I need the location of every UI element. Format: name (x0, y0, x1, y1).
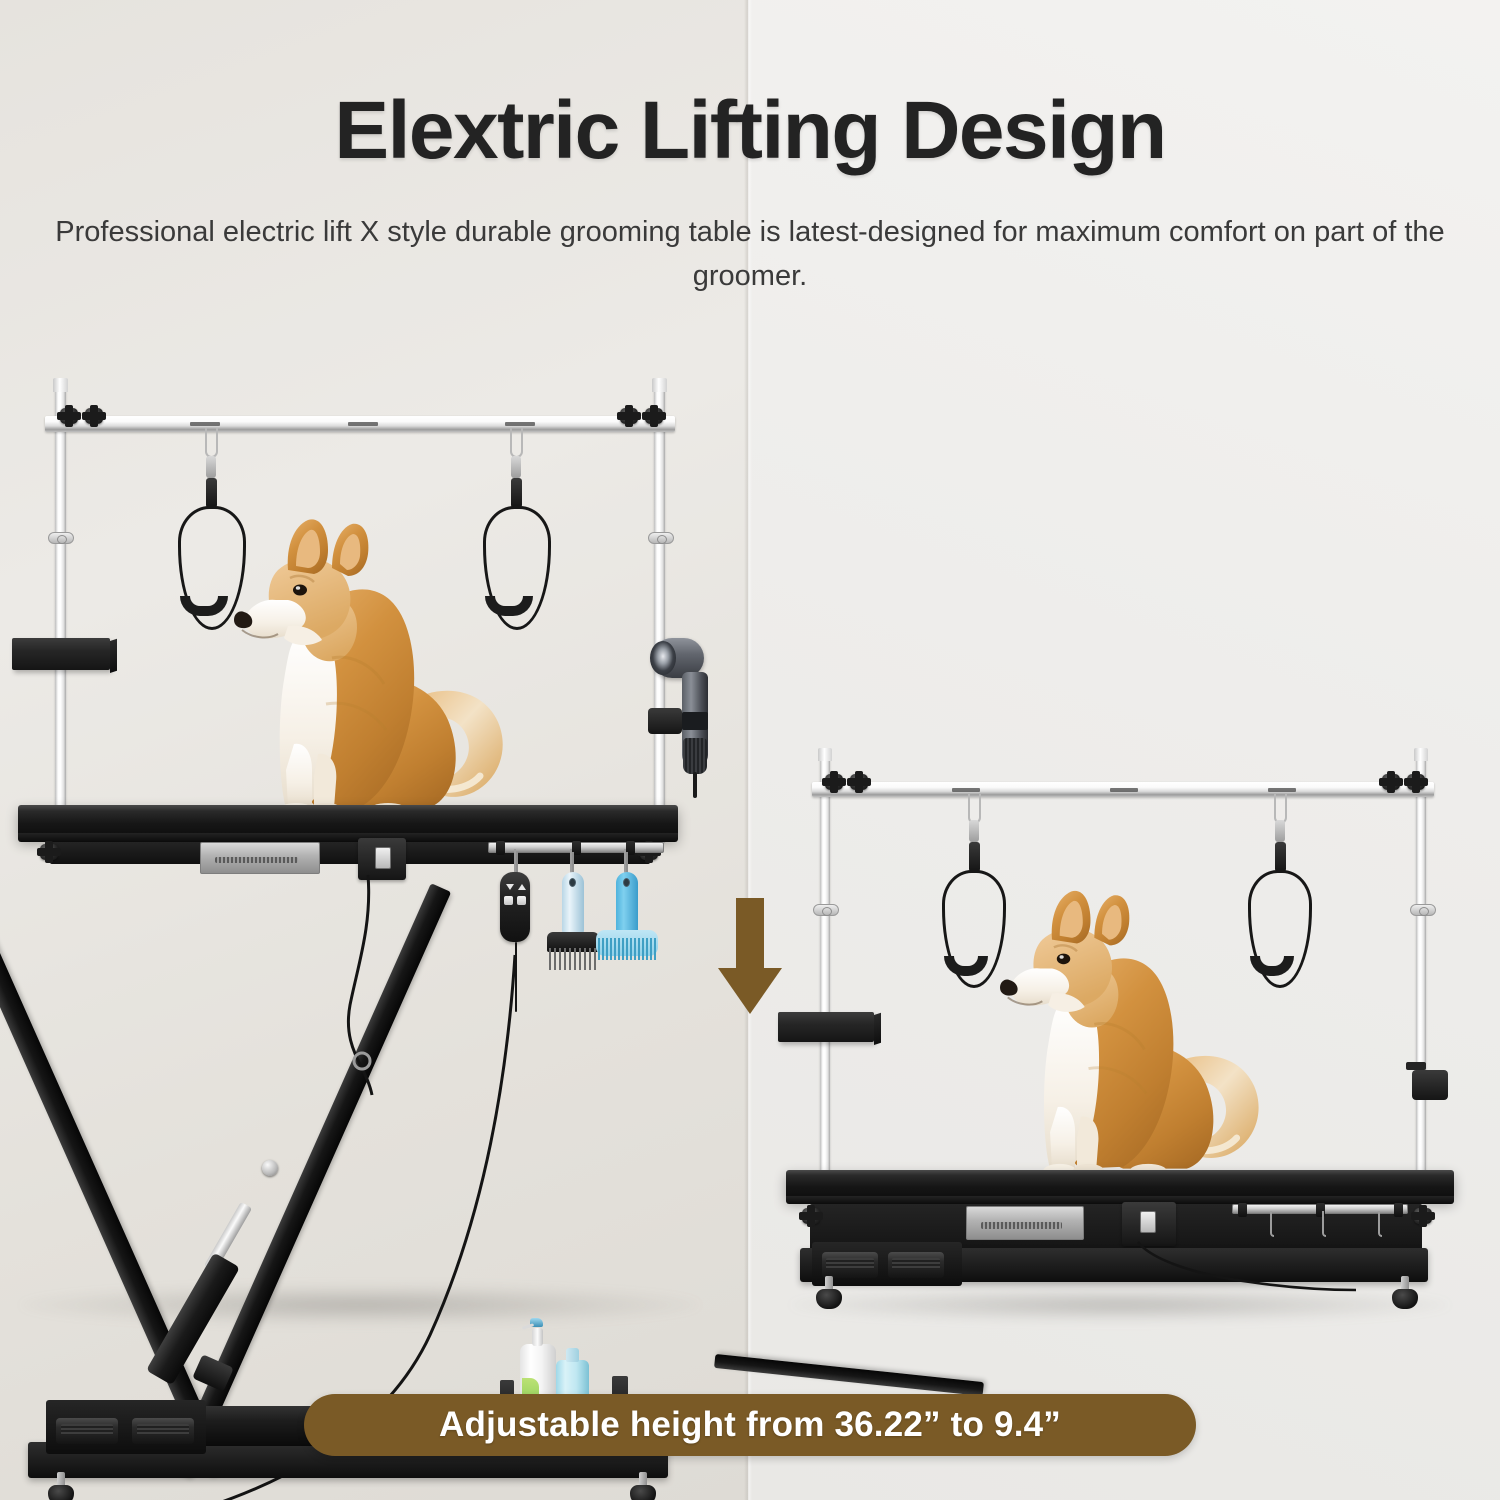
noose-left-slider-r[interactable] (969, 842, 980, 872)
arm-knob-left-inner-r[interactable] (850, 774, 868, 790)
noose-right-slider-r[interactable] (1275, 842, 1286, 872)
arm-slot-2-r (1110, 788, 1138, 792)
noose-left-clip-r (969, 820, 979, 842)
noose-right-clip-r (1275, 820, 1285, 842)
pull-out-storage-drawer-r[interactable] (966, 1206, 1084, 1240)
raised-table-panel (0, 360, 748, 1370)
noose-right-hook (510, 428, 523, 458)
adjustable-height-banner: Adjustable height from 36.22” to 9.4” (304, 1394, 1196, 1456)
hook-rail-clip-3-r (1394, 1203, 1403, 1217)
rake-teeth (549, 948, 597, 970)
right-post-collar-r (1410, 904, 1436, 916)
foot-pedal-right-r[interactable] (888, 1252, 944, 1278)
arm-slot-2 (348, 422, 378, 426)
arm-slot-1 (190, 422, 220, 426)
arrow-head (718, 968, 782, 1014)
dryer-band (682, 712, 708, 730)
dryer-filter-grill (683, 738, 707, 774)
rail-hook-3-r (1378, 1211, 1382, 1237)
arm-slot-1-r (952, 788, 980, 792)
right-vertical-post (654, 388, 665, 843)
lowered-table-panel (770, 720, 1500, 1370)
leveling-foot-left (48, 1472, 74, 1500)
table-side-knob-right-r[interactable] (1414, 1208, 1432, 1224)
shampoo-bottle-cap (566, 1348, 579, 1362)
leveling-foot-left-r (816, 1276, 842, 1310)
power-cord-r (1100, 1240, 1360, 1300)
arm-knob-right-inner-r[interactable] (1382, 774, 1400, 790)
dryer-nozzle-ring (650, 641, 676, 675)
dryer-holder-clamp-r (1412, 1070, 1448, 1100)
noose-left-hook (205, 428, 218, 458)
banner-text: Adjustable height from 36.22” to 9.4” (439, 1405, 1061, 1445)
arm-knob-left-outer-r[interactable] (825, 774, 843, 790)
page-title: Elextric Lifting Design (0, 88, 1500, 174)
hook-rail-clip-1 (496, 841, 505, 855)
dryer-cord (693, 772, 697, 798)
side-accessory-shelf-r (778, 1012, 874, 1042)
table-side-knob-left-r[interactable] (802, 1208, 820, 1224)
page-subtitle: Professional electric lift X style durab… (0, 210, 1500, 298)
dryer-holder-clamp (648, 708, 682, 734)
foot-pedal-left-r[interactable] (822, 1252, 878, 1278)
shiba-inu-dog (222, 508, 512, 826)
right-vertical-post-r (1416, 758, 1426, 1183)
left-post-collar-r (813, 904, 839, 916)
arm-knob-right-outer[interactable] (645, 408, 663, 424)
brush-hang-hole (623, 878, 630, 887)
control-box-power-port-r (1140, 1211, 1156, 1233)
shiba-inu-dog-r (988, 880, 1268, 1186)
arm-knob-left-inner[interactable] (85, 408, 103, 424)
noose-right-slider[interactable] (511, 478, 522, 508)
lowering-direction-arrow (718, 898, 782, 1014)
leveling-foot-right (630, 1472, 656, 1500)
spray-bottle-neck (532, 1328, 543, 1346)
right-post-cap-r (1414, 748, 1428, 761)
rake-hang-wire (572, 852, 574, 874)
brush-hang-wire (626, 852, 628, 874)
table-side-knob-left[interactable] (40, 844, 58, 860)
right-post-cap (652, 378, 667, 392)
noose-left-clip (206, 456, 216, 478)
left-post-cap (53, 378, 68, 392)
leveling-foot-right-r (1392, 1276, 1418, 1310)
noose-left-slider[interactable] (206, 478, 217, 508)
rail-hook-1-r (1270, 1211, 1274, 1237)
grooming-table-lowered (770, 720, 1500, 1370)
right-post-collar (648, 532, 674, 544)
arm-knob-right-inner[interactable] (620, 408, 638, 424)
arm-knob-left-outer[interactable] (60, 408, 78, 424)
table-top-edge-r (786, 1196, 1454, 1204)
rail-hook-2-r (1322, 1211, 1326, 1237)
grooming-table-raised (0, 360, 748, 1370)
noose-right-clip (511, 456, 521, 478)
spray-bottle-trigger (522, 1318, 544, 1330)
left-vertical-post-r (820, 758, 830, 1183)
arm-slot-3-r (1268, 788, 1296, 792)
rake-hang-hole (569, 878, 576, 887)
slicker-pins (598, 938, 656, 960)
left-post-cap-r (818, 748, 832, 761)
left-vertical-post (55, 388, 66, 843)
foot-pedal-left[interactable] (56, 1418, 118, 1444)
header: Elextric Lifting Design Professional ele… (0, 0, 1500, 298)
dryer-clamp-arm-r (1406, 1062, 1426, 1070)
side-accessory-shelf (12, 638, 110, 670)
arm-knob-right-outer-r[interactable] (1407, 774, 1425, 790)
arm-slot-3 (505, 422, 535, 426)
hook-rail-clip-1-r (1238, 1203, 1247, 1217)
left-post-collar (48, 532, 74, 544)
foot-pedal-right[interactable] (132, 1418, 194, 1444)
arrow-shaft (736, 898, 764, 972)
